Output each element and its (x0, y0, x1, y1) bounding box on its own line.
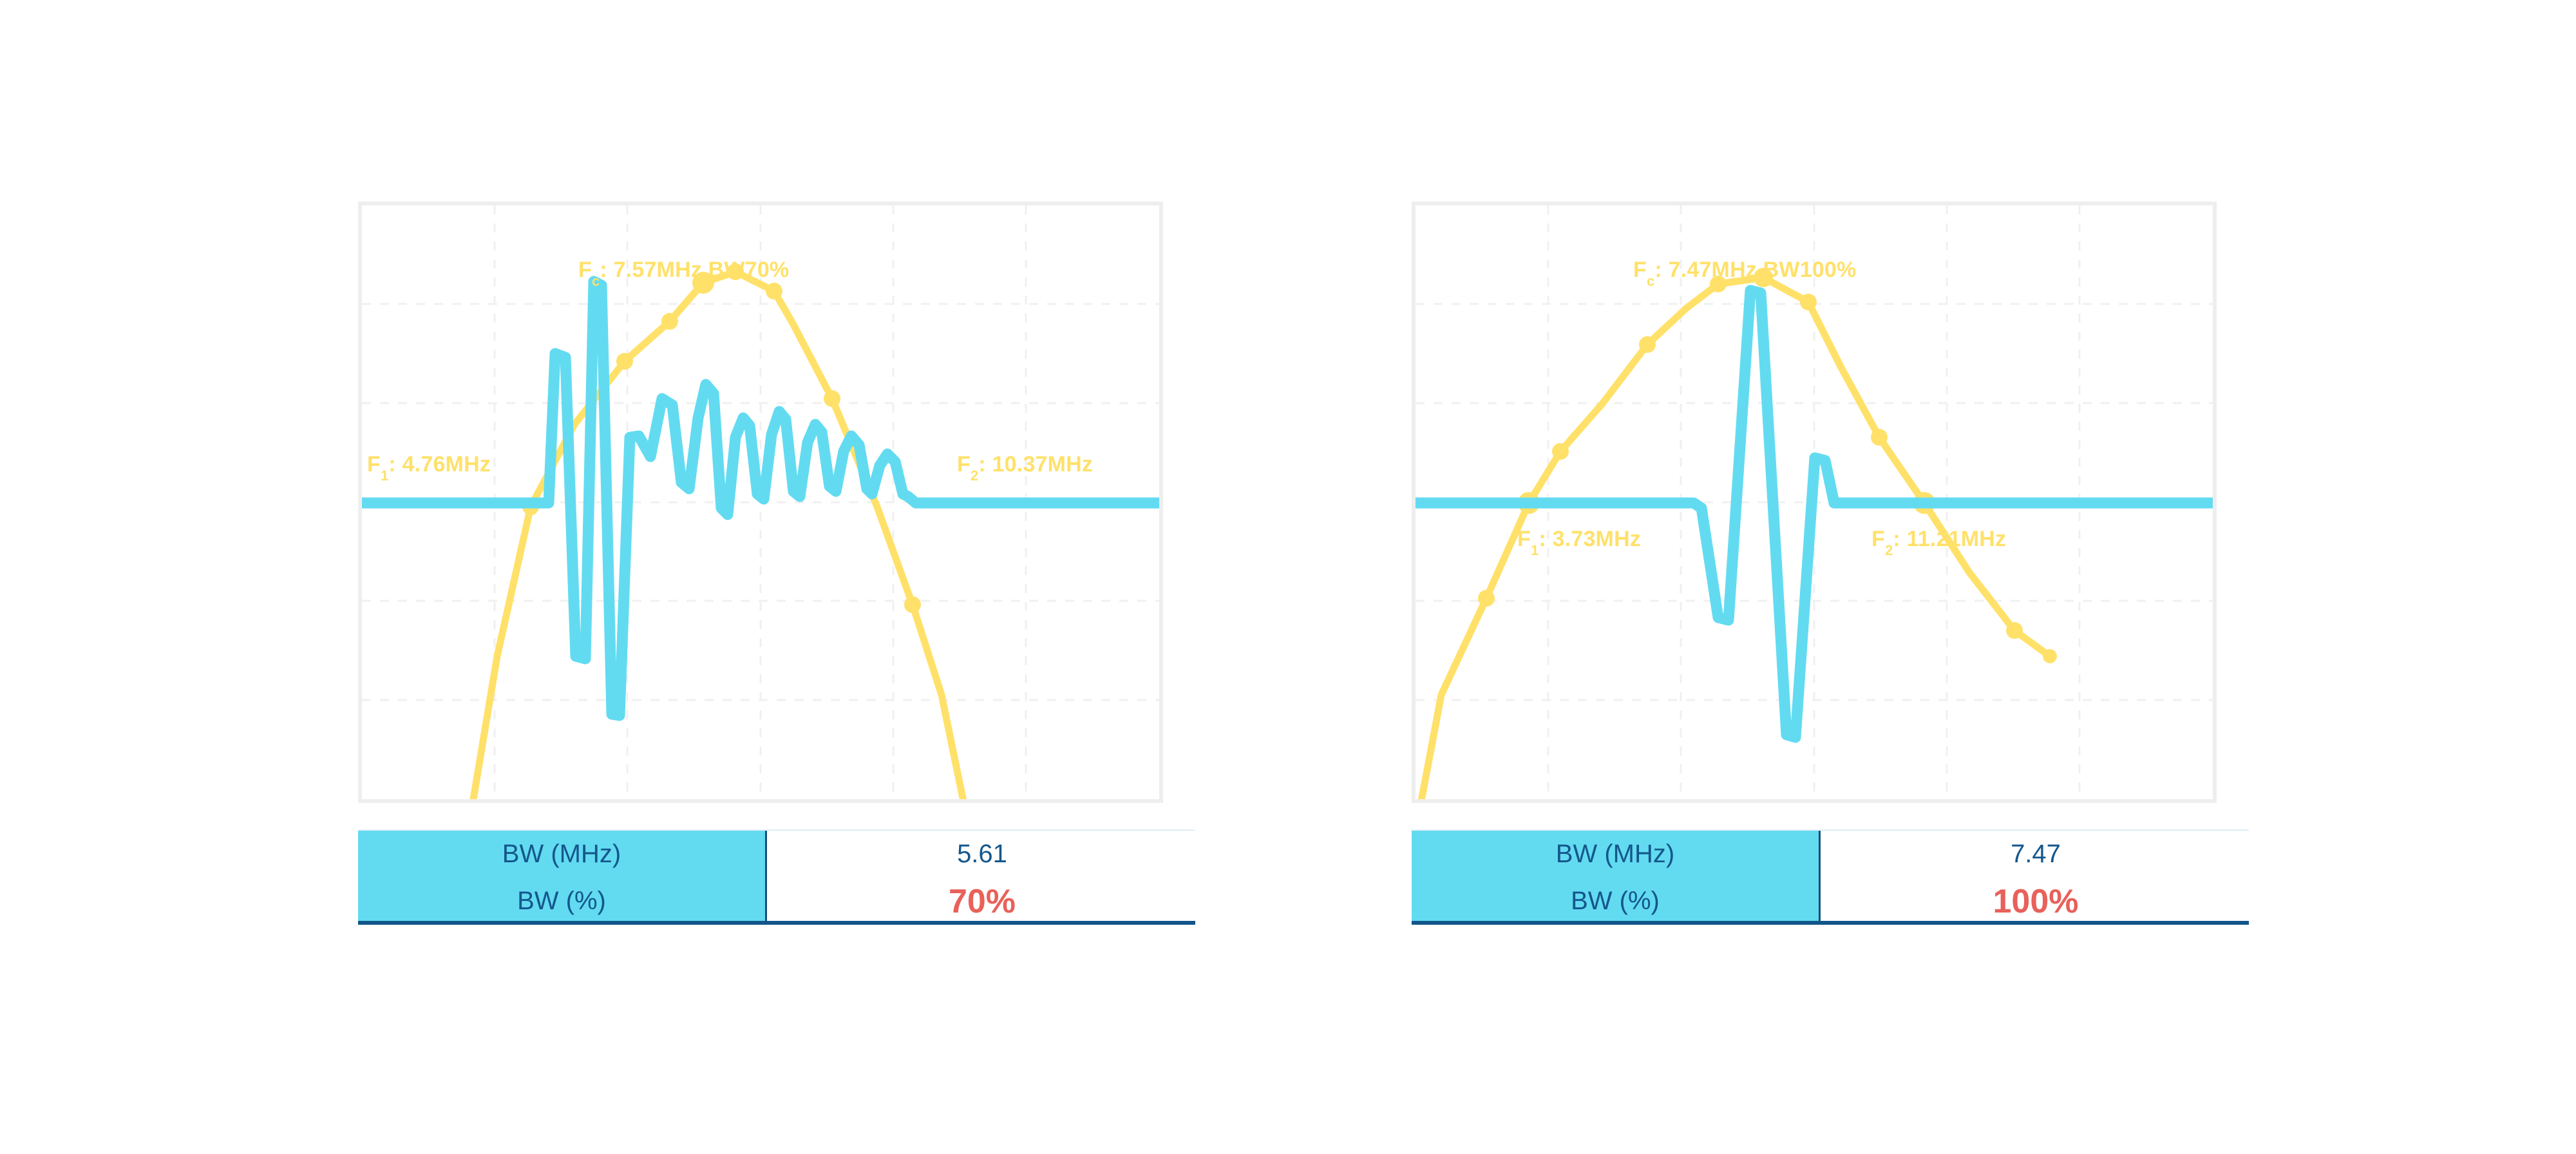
bw-pct-header-right: BW (%) (1412, 878, 1820, 925)
bw-pct-value-right: 100% (1820, 878, 2251, 925)
annotation-fc-right: Fc: 7.47MHz BW100% (1633, 258, 1856, 283)
fc-sub-right: c (1647, 273, 1654, 289)
panel-right: Fc: 7.47MHz BW100% F1: 3.73MHz F2: 11.21… (0, 0, 2576, 1154)
bw-table-right: BW (MHz) 7.47 BW (%) 100% (1412, 831, 2251, 925)
f1-sub-right: 1 (1531, 542, 1539, 558)
table-row: BW (MHz) 7.47 (1412, 831, 2251, 878)
f2-text-right: : 11.21MHz (1893, 527, 2006, 551)
f1-prefix-right: F (1517, 527, 1531, 551)
fc-prefix-right: F (1633, 258, 1647, 282)
chart-right (1412, 202, 2217, 803)
fc-text-right: : 7.47MHz BW100% (1654, 258, 1856, 282)
f2-sub-right: 2 (1885, 542, 1893, 558)
annotation-f1-right: F1: 3.73MHz (1517, 527, 1641, 552)
bw-mhz-header-right: BW (MHz) (1412, 831, 1820, 878)
f1-text-right: : 3.73MHz (1539, 527, 1641, 551)
bw-mhz-value-right: 7.47 (1820, 831, 2251, 878)
chart-right-svg (1416, 205, 2213, 799)
table-row: BW (%) 100% (1412, 878, 2251, 925)
chart-right-plot-area (1416, 205, 2213, 799)
f2-prefix-right: F (1871, 527, 1885, 551)
annotation-f2-right: F2: 11.21MHz (1871, 527, 2006, 552)
table-divider-right (1412, 921, 2249, 925)
